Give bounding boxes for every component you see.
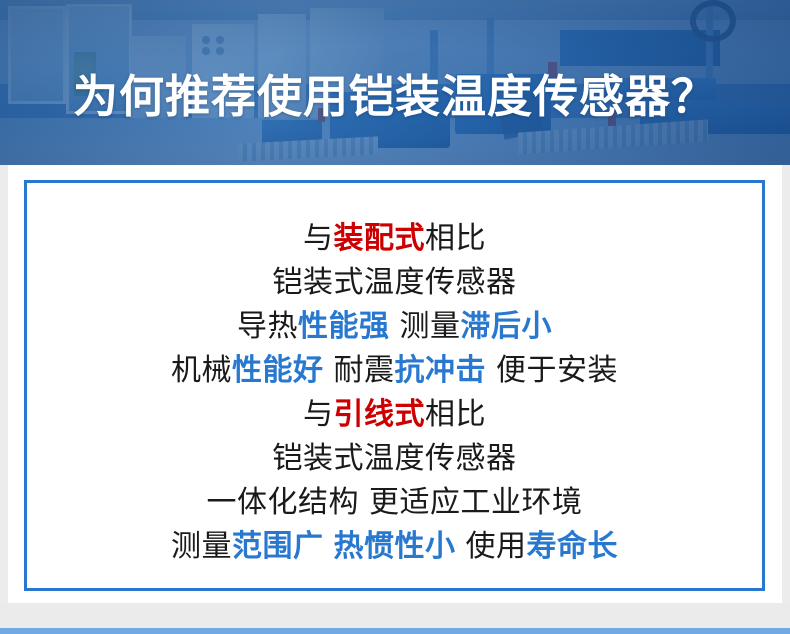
text-plain: 相比	[425, 397, 486, 432]
content-card: 与装配式相比铠装式温度传感器导热性能强 测量滞后小机械性能好 耐震抗冲击 便于安…	[8, 165, 782, 603]
hero-banner: 为何推荐使用铠装温度传感器？	[0, 0, 790, 165]
benefit-line-benefit-mechanical: 机械性能好 耐震抗冲击 便于安装	[27, 349, 762, 393]
text-plain: 相比	[425, 221, 486, 256]
text-plain: 与	[303, 397, 334, 432]
text-plain: 机械	[171, 353, 232, 388]
footer-blue-strip	[0, 628, 790, 634]
text-plain: 使用	[456, 529, 527, 564]
footer-gray-strip	[0, 603, 790, 628]
content-frame-border: 与装配式相比铠装式温度传感器导热性能强 测量滞后小机械性能好 耐震抗冲击 便于安…	[24, 180, 765, 591]
text-highlight-blue: 性能好	[232, 353, 324, 388]
benefit-line-benefit-structure: 一体化结构 更适应工业环境	[27, 481, 762, 525]
text-highlight-blue: 寿命长	[527, 529, 619, 564]
benefit-line-compare-leadwire: 与引线式相比	[27, 393, 762, 437]
benefit-line-benefit-range: 测量范围广 热惯性小 使用寿命长	[27, 525, 762, 569]
text-highlight-red: 装配式	[334, 221, 426, 256]
text-plain: 耐震	[323, 353, 394, 388]
text-highlight-blue: 范围广	[232, 529, 324, 564]
text-plain: 测量	[171, 529, 232, 564]
benefit-line-benefit-thermal: 导热性能强 测量滞后小	[27, 305, 762, 349]
benefit-list: 与装配式相比铠装式温度传感器导热性能强 测量滞后小机械性能好 耐震抗冲击 便于安…	[27, 217, 762, 569]
text-plain: 铠装式温度传感器	[273, 441, 517, 476]
text-highlight-blue: 性能强	[298, 309, 390, 344]
text-highlight-red: 引线式	[334, 397, 426, 432]
text-highlight-blue: 抗冲击	[395, 353, 487, 388]
benefit-line-subject-1: 铠装式温度传感器	[27, 261, 762, 305]
page-root: 为何推荐使用铠装温度传感器？ 与装配式相比铠装式温度传感器导热性能强 测量滞后小…	[0, 0, 790, 634]
text-highlight-blue: 滞后小	[461, 309, 553, 344]
text-plain: 与	[303, 221, 334, 256]
page-title: 为何推荐使用铠装温度传感器？	[0, 74, 790, 119]
text-plain: 铠装式温度传感器	[273, 265, 517, 300]
text-plain	[323, 529, 333, 564]
text-plain: 一体化结构 更适应工业环境	[206, 485, 582, 520]
text-plain: 测量	[389, 309, 460, 344]
text-highlight-blue: 热惯性小	[334, 529, 456, 564]
text-plain: 便于安装	[486, 353, 618, 388]
benefit-line-compare-assembled: 与装配式相比	[27, 217, 762, 261]
benefit-line-subject-2: 铠装式温度传感器	[27, 437, 762, 481]
text-plain: 导热	[237, 309, 298, 344]
